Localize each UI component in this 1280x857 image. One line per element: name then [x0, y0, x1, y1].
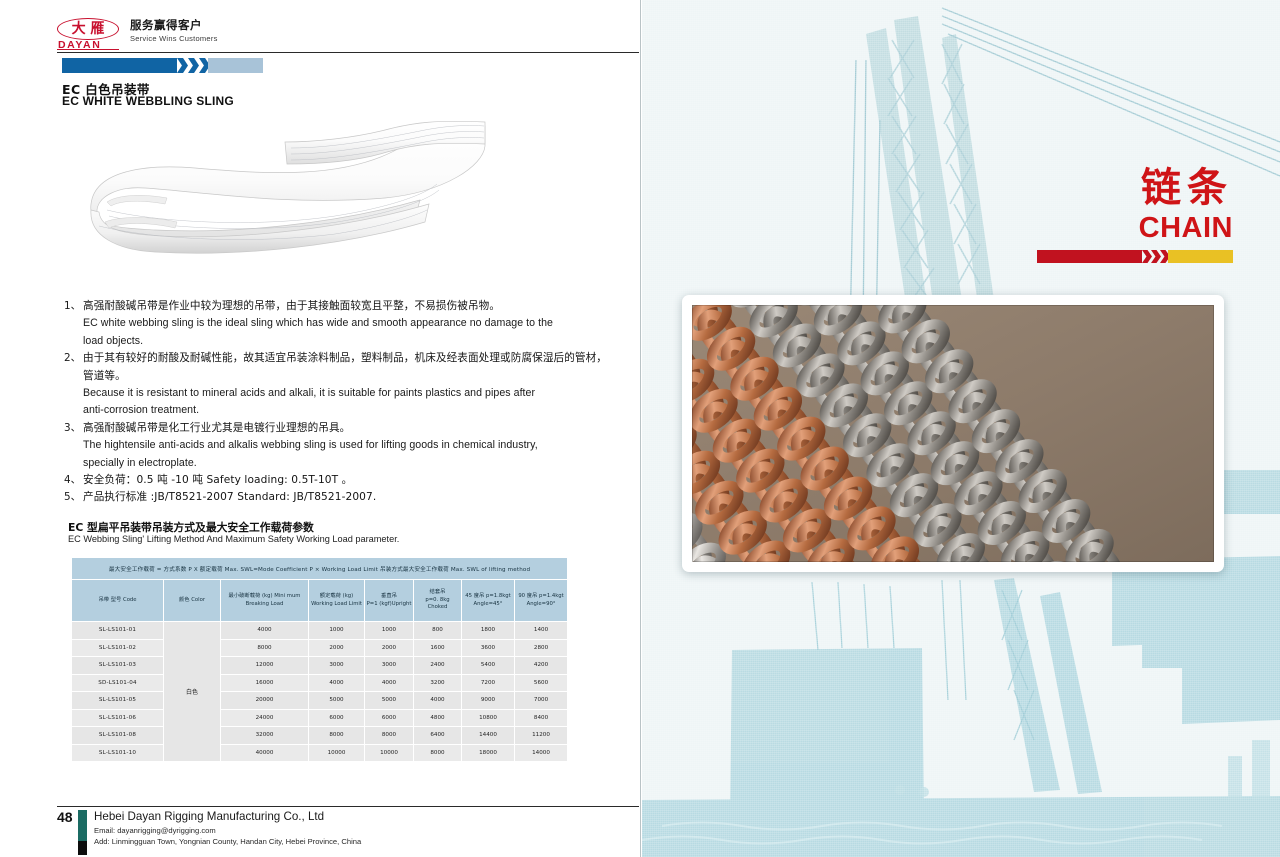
th-choked-en: p=0. 8kg Choked [415, 597, 460, 612]
cell-a90: 4200 [515, 657, 568, 675]
company-logo: 大 雁 DAYAN 服务赢得客户 Service Wins Customers [57, 18, 218, 50]
feature-number: 4、 [64, 472, 83, 489]
table-caption-cn: EC 型扁平吊装带吊装方式及最大安全工作载荷参数 [68, 519, 314, 535]
chain-photo [692, 305, 1214, 562]
table-banner-row: 最大安全工作载荷 = 方式系数 P X 额定载荷 Max. SWL=Mode C… [72, 558, 568, 580]
cell-upright: 8000 [365, 727, 414, 745]
cell-wll: 8000 [309, 727, 365, 745]
cell-code: SL-LS101-05 [72, 692, 164, 710]
cell-code: SL-LS101-01 [72, 622, 164, 640]
feature-text-en: anti-corrosion treatment. [83, 402, 199, 419]
brand-slogan: 服务赢得客户 Service Wins Customers [130, 18, 218, 43]
cell-upright: 6000 [365, 709, 414, 727]
feature-number: 3、 [64, 420, 83, 437]
footer-accent-teal [78, 810, 87, 841]
band-light-segment [208, 58, 263, 73]
cell-choked: 1600 [414, 639, 462, 657]
cell-a45: 3600 [462, 639, 515, 657]
table-row: SL-LS101-03 12000 3000 3000 2400 5400 42… [72, 657, 568, 675]
table-header-row: 吊带 型号 Code 颜色 Color 最小破断载荷 (kg) Mini mum… [72, 580, 568, 622]
th-wll-cn: 额定载荷 (kg) [310, 593, 363, 601]
spec-table: 最大安全工作载荷 = 方式系数 P X 额定载荷 Max. SWL=Mode C… [71, 557, 568, 762]
cell-a90: 1400 [515, 622, 568, 640]
cell-color: 白色 [164, 622, 221, 762]
cell-choked: 3200 [414, 674, 462, 692]
feature-text-cn: 高强耐酸碱吊带是化工行业尤其是电镀行业理想的吊具。 [83, 420, 350, 437]
footer-divider [57, 806, 639, 807]
footer-address: Add: Linmingguan Town, Yongnian County, … [94, 837, 361, 846]
feature-item-en: load objects. [64, 333, 624, 350]
th-wll-en: Working Load Limit [310, 601, 363, 609]
feature-item-cn-cont: 管道等。 [64, 368, 624, 385]
feature-text-en: EC white webbing sling is the ideal slin… [83, 315, 553, 332]
cell-breaking: 24000 [221, 709, 309, 727]
cell-choked: 2400 [414, 657, 462, 675]
product-image-webbing-sling [85, 118, 535, 283]
chevron-icon-2 [188, 58, 199, 73]
feature-text-en: load objects. [83, 333, 143, 350]
chain-photo-frame [682, 295, 1224, 572]
logo-oval-icon: 大 雁 [57, 18, 119, 40]
cell-code: SL-LS101-02 [72, 639, 164, 657]
cell-wll: 2000 [309, 639, 365, 657]
cell-wll: 5000 [309, 692, 365, 710]
th-angle-45: 45 度吊 p=1.8kgt Angle=45° [462, 580, 515, 622]
th-working-load-limit: 额定载荷 (kg) Working Load Limit [309, 580, 365, 622]
cell-upright: 1000 [365, 622, 414, 640]
section-accent-bar [1037, 250, 1233, 263]
cell-upright: 5000 [365, 692, 414, 710]
accent-chevron-2 [1151, 250, 1161, 263]
feature-text-en: specially in electroplate. [83, 455, 197, 472]
feature-text-cn: 由于其有较好的耐酸及耐碱性能，故其适宜吊装涂料制品，塑料制品，机床及经表面处理或… [83, 350, 607, 367]
feature-item-en: specially in electroplate. [64, 455, 624, 472]
feature-item: 4、 安全负荷：0.5 吨 -10 吨 Safety loading: 0.5T… [64, 472, 624, 489]
cell-breaking: 16000 [221, 674, 309, 692]
cell-code: SL-LS101-03 [72, 657, 164, 675]
cell-a90: 2800 [515, 639, 568, 657]
table-row: SL-LS101-05 20000 5000 5000 4000 9000 70… [72, 692, 568, 710]
th-a90-en: Angle=90° [516, 601, 566, 609]
table-row: SL-LS101-02 8000 2000 2000 1600 3600 280… [72, 639, 568, 657]
feature-item: 5、 产品执行标准 :JB/T8521-2007 Standard: JB/T8… [64, 489, 624, 506]
feature-number: 5、 [64, 489, 83, 506]
section-title-cn: 链条 [1141, 168, 1233, 208]
th-upright-en: P=1 (kgf)Upright [366, 601, 412, 609]
table-row: SD-LS101-04 16000 4000 4000 3200 7200 56… [72, 674, 568, 692]
cell-choked: 800 [414, 622, 462, 640]
th-breaking-cn: 最小破断载荷 (kg) Mini mum [222, 593, 307, 601]
feature-number: 2、 [64, 350, 83, 367]
webbing-sling-illustration [85, 118, 535, 283]
cell-upright: 10000 [365, 744, 414, 762]
cell-breaking: 40000 [221, 744, 309, 762]
cell-code: SL-LS101-08 [72, 727, 164, 745]
accent-bar-red [1037, 250, 1142, 263]
section-title-en: CHAIN [1139, 214, 1233, 243]
feature-item-en: The hightensile anti-acids and alkalis w… [64, 437, 624, 454]
feature-number: 1、 [64, 298, 83, 315]
feature-item-en: anti-corrosion treatment. [64, 402, 624, 419]
cell-upright: 3000 [365, 657, 414, 675]
feature-item: 2、 由于其有较好的耐酸及耐碱性能，故其适宜吊装涂料制品，塑料制品，机床及经表面… [64, 350, 624, 367]
cell-wll: 10000 [309, 744, 365, 762]
feature-text-cn2: 管道等。 [83, 368, 126, 385]
feature-text-cn: 安全负荷：0.5 吨 -10 吨 Safety loading: 0.5T-10… [83, 472, 352, 489]
table-row: SL-LS101-06 24000 6000 6000 4800 10800 8… [72, 709, 568, 727]
chevron-icon-1 [177, 58, 188, 73]
logo-cn-text: 大 雁 [72, 22, 105, 36]
footer-accent-black [78, 841, 87, 855]
cell-choked: 8000 [414, 744, 462, 762]
band-dark-segment [62, 58, 177, 73]
cell-a45: 1800 [462, 622, 515, 640]
th-angle-90: 90 度吊 p=1.4kgt Angle=90° [515, 580, 568, 622]
dayan-logo-mark: 大 雁 DAYAN [57, 18, 121, 50]
feature-text-cn: 高强耐酸碱吊带是作业中较为理想的吊带，由于其接触面较宽且平整，不易损伤被吊物。 [83, 298, 500, 315]
cell-breaking: 4000 [221, 622, 309, 640]
cell-breaking: 12000 [221, 657, 309, 675]
cell-a45: 10800 [462, 709, 515, 727]
slogan-en: Service Wins Customers [130, 34, 218, 43]
feature-item: 3、 高强耐酸碱吊带是化工行业尤其是电镀行业理想的吊具。 [64, 420, 624, 437]
table-row: SL-LS101-01 白色 4000 1000 1000 800 1800 1… [72, 622, 568, 640]
section-band [62, 58, 263, 73]
table-caption-en: EC Webbing Sling' Lifting Method And Max… [68, 534, 399, 544]
accent-chevron-1 [1142, 250, 1152, 263]
page-number: 48 [57, 809, 73, 825]
feature-text-cn: 产品执行标准 :JB/T8521-2007 Standard: JB/T8521… [83, 489, 376, 506]
th-color-cn: 颜色 Color [165, 597, 219, 605]
left-page: 大 雁 DAYAN 服务赢得客户 Service Wins Customers … [0, 0, 641, 857]
feature-item: 1、 高强耐酸碱吊带是作业中较为理想的吊带，由于其接触面较宽且平整，不易损伤被吊… [64, 298, 624, 315]
th-choked: 结套吊 p=0. 8kg Choked [414, 580, 462, 622]
cell-a90: 11200 [515, 727, 568, 745]
cell-wll: 3000 [309, 657, 365, 675]
cell-code: SL-LS101-06 [72, 709, 164, 727]
catalog-page: 大 雁 DAYAN 服务赢得客户 Service Wins Customers … [0, 0, 1280, 857]
cell-wll: 6000 [309, 709, 365, 727]
footer-email: Email: dayanrigging@dyrigging.com [94, 826, 216, 835]
header-divider [57, 52, 639, 53]
th-a45-en: Angle=45° [463, 601, 513, 609]
th-color: 颜色 Color [164, 580, 221, 622]
cell-a90: 5600 [515, 674, 568, 692]
cell-upright: 4000 [365, 674, 414, 692]
accent-bar-yellow [1168, 250, 1233, 263]
cell-code: SL-LS101-10 [72, 744, 164, 762]
alloy-chain-illustration [692, 305, 1214, 562]
cell-upright: 2000 [365, 639, 414, 657]
th-code: 吊带 型号 Code [72, 580, 164, 622]
cell-breaking: 8000 [221, 639, 309, 657]
th-a90-cn: 90 度吊 p=1.4kgt [516, 593, 566, 601]
cell-a45: 7200 [462, 674, 515, 692]
th-code-cn: 吊带 型号 Code [73, 597, 162, 605]
cell-wll: 1000 [309, 622, 365, 640]
product-title-en: EC WHITE WEBBLING SLING [62, 94, 234, 108]
feature-text-en: Because it is resistant to mineral acids… [83, 385, 535, 402]
th-upright: 垂直吊 P=1 (kgf)Upright [365, 580, 414, 622]
th-a45-cn: 45 度吊 p=1.8kgt [463, 593, 513, 601]
feature-item-en: Because it is resistant to mineral acids… [64, 385, 624, 402]
table-row: SL-LS101-10 40000 10000 10000 8000 18000… [72, 744, 568, 762]
cell-choked: 4800 [414, 709, 462, 727]
cell-a45: 14400 [462, 727, 515, 745]
spec-table-container: 最大安全工作载荷 = 方式系数 P X 额定载荷 Max. SWL=Mode C… [71, 557, 567, 762]
table-banner: 最大安全工作载荷 = 方式系数 P X 额定载荷 Max. SWL=Mode C… [72, 558, 568, 580]
cell-choked: 6400 [414, 727, 462, 745]
table-row: SL-LS101-08 32000 8000 8000 6400 14400 1… [72, 727, 568, 745]
cell-breaking: 20000 [221, 692, 309, 710]
cell-a45: 9000 [462, 692, 515, 710]
feature-list: 1、 高强耐酸碱吊带是作业中较为理想的吊带，由于其接触面较宽且平整，不易损伤被吊… [64, 298, 624, 507]
feature-item-en: EC white webbing sling is the ideal slin… [64, 315, 624, 332]
cell-a45: 5400 [462, 657, 515, 675]
cell-choked: 4000 [414, 692, 462, 710]
slogan-cn: 服务赢得客户 [130, 18, 218, 32]
cell-a90: 14000 [515, 744, 568, 762]
footer-company-name: Hebei Dayan Rigging Manufacturing Co., L… [94, 810, 324, 823]
th-choked-cn: 结套吊 [415, 589, 460, 597]
th-breaking-load: 最小破断载荷 (kg) Mini mum Breaking Load [221, 580, 309, 622]
logo-underline [57, 49, 119, 50]
cell-a45: 18000 [462, 744, 515, 762]
feature-text-en: The hightensile anti-acids and alkalis w… [83, 437, 538, 454]
th-upright-cn: 垂直吊 [366, 593, 412, 601]
cell-a90: 7000 [515, 692, 568, 710]
th-breaking-en: Breaking Load [222, 601, 307, 609]
cell-code: SD-LS101-04 [72, 674, 164, 692]
cell-breaking: 32000 [221, 727, 309, 745]
cell-wll: 4000 [309, 674, 365, 692]
cell-a90: 8400 [515, 709, 568, 727]
